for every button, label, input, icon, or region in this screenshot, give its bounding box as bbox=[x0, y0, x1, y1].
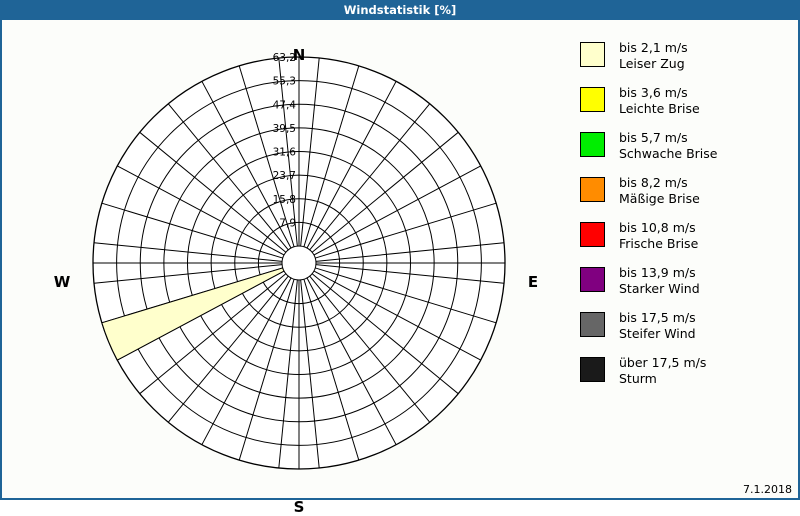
application-window: Windstatistik [%] 7,915,823,731,639,547,… bbox=[0, 0, 800, 500]
radial-tick-label: 15,8 bbox=[273, 194, 296, 206]
legend-item[interactable]: bis 13,9 m/sStarker Wind bbox=[580, 265, 790, 301]
legend-name-label: Mäßige Brise bbox=[619, 191, 700, 207]
legend-speed-label: bis 3,6 m/s bbox=[619, 85, 688, 100]
radial-tick-label: 55,3 bbox=[273, 76, 296, 88]
legend-swatch bbox=[580, 177, 605, 202]
legend-item[interactable]: bis 10,8 m/sFrische Brise bbox=[580, 220, 790, 256]
legend-swatch bbox=[580, 87, 605, 112]
compass-label-east: E bbox=[513, 273, 553, 291]
legend-speed-label: bis 13,9 m/s bbox=[619, 265, 696, 280]
legend-item[interactable]: über 17,5 m/sSturm bbox=[580, 355, 790, 391]
legend-item[interactable]: bis 5,7 m/sSchwache Brise bbox=[580, 130, 790, 166]
legend-label: bis 5,7 m/sSchwache Brise bbox=[619, 130, 717, 162]
radial-tick-label: 23,7 bbox=[273, 170, 296, 182]
legend: bis 2,1 m/sLeiser Zugbis 3,6 m/sLeichte … bbox=[580, 40, 790, 400]
legend-label: bis 10,8 m/sFrische Brise bbox=[619, 220, 698, 252]
compass-label-north: N bbox=[279, 46, 319, 64]
wind-rose-plot: 7,915,823,731,639,547,455,363,2 N E S W bbox=[2, 20, 570, 498]
legend-name-label: Frische Brise bbox=[619, 236, 698, 252]
legend-swatch bbox=[580, 267, 605, 292]
legend-speed-label: bis 8,2 m/s bbox=[619, 175, 688, 190]
legend-swatch bbox=[580, 42, 605, 67]
compass-label-south: S bbox=[279, 498, 319, 516]
legend-speed-label: bis 5,7 m/s bbox=[619, 130, 688, 145]
legend-label: bis 13,9 m/sStarker Wind bbox=[619, 265, 700, 297]
legend-name-label: Sturm bbox=[619, 371, 706, 387]
legend-label: über 17,5 m/sSturm bbox=[619, 355, 706, 387]
radial-tick-label: 39,5 bbox=[273, 123, 296, 135]
legend-swatch bbox=[580, 312, 605, 337]
legend-speed-label: bis 17,5 m/s bbox=[619, 310, 696, 325]
wind-rose-svg: 7,915,823,731,639,547,455,363,2 bbox=[2, 20, 570, 498]
date-stamp: 7.1.2018 bbox=[743, 483, 792, 496]
legend-name-label: Starker Wind bbox=[619, 281, 700, 297]
legend-swatch bbox=[580, 132, 605, 157]
legend-label: bis 17,5 m/sSteifer Wind bbox=[619, 310, 696, 342]
legend-name-label: Leichte Brise bbox=[619, 101, 700, 117]
legend-name-label: Leiser Zug bbox=[619, 56, 688, 72]
legend-speed-label: über 17,5 m/s bbox=[619, 355, 706, 370]
legend-label: bis 3,6 m/sLeichte Brise bbox=[619, 85, 700, 117]
compass-label-west: W bbox=[42, 273, 82, 291]
window-title-bar: Windstatistik [%] bbox=[0, 0, 800, 20]
legend-item[interactable]: bis 17,5 m/sSteifer Wind bbox=[580, 310, 790, 346]
legend-name-label: Schwache Brise bbox=[619, 146, 717, 162]
legend-name-label: Steifer Wind bbox=[619, 326, 696, 342]
legend-item[interactable]: bis 2,1 m/sLeiser Zug bbox=[580, 40, 790, 76]
legend-label: bis 8,2 m/sMäßige Brise bbox=[619, 175, 700, 207]
legend-swatch bbox=[580, 222, 605, 247]
legend-item[interactable]: bis 3,6 m/sLeichte Brise bbox=[580, 85, 790, 121]
radial-tick-label: 47,4 bbox=[273, 99, 297, 111]
legend-speed-label: bis 2,1 m/s bbox=[619, 40, 688, 55]
legend-label: bis 2,1 m/sLeiser Zug bbox=[619, 40, 688, 72]
radial-tick-label: 7,9 bbox=[279, 217, 296, 229]
window-title: Windstatistik [%] bbox=[344, 3, 457, 17]
legend-item[interactable]: bis 8,2 m/sMäßige Brise bbox=[580, 175, 790, 211]
legend-speed-label: bis 10,8 m/s bbox=[619, 220, 696, 235]
rose-hub bbox=[282, 246, 316, 280]
radial-tick-label: 31,6 bbox=[273, 147, 297, 159]
legend-swatch bbox=[580, 357, 605, 382]
